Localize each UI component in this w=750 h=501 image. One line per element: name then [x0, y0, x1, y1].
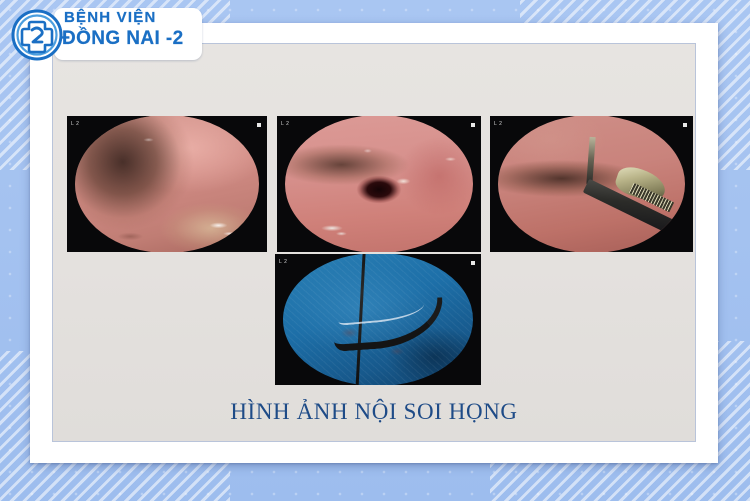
hospital-circle-emblem-icon — [10, 8, 64, 62]
frame-inner-border: L 2 L 2 — [52, 43, 696, 442]
image-corner-marker-icon — [471, 261, 475, 265]
endoscopy-field-of-view — [75, 116, 259, 252]
hospital-name-line-1: BỆNH VIỆN — [62, 10, 202, 25]
slide-page: L 2 L 2 — [0, 0, 750, 501]
image-corner-code: L 2 — [71, 121, 80, 127]
photo-frame: L 2 L 2 — [30, 23, 718, 463]
endoscopy-image-2[interactable]: L 2 — [277, 116, 481, 252]
throat-mucosa-render — [75, 116, 259, 252]
hospital-wordmark: BỆNH VIỆN ĐỒNG NAI -2 — [62, 10, 202, 58]
endoscopy-field-of-view — [283, 254, 473, 385]
slide-caption: HÌNH ẢNH NỘI SOI HỌNG — [53, 399, 695, 425]
pharynx-cavity-render — [285, 116, 473, 252]
endoscopy-image-1[interactable]: L 2 — [67, 116, 267, 252]
endoscopy-field-of-view — [285, 116, 473, 252]
image-corner-code: L 2 — [279, 259, 288, 265]
endoscopy-image-gallery: L 2 L 2 — [53, 44, 695, 441]
image-corner-marker-icon — [257, 123, 261, 127]
image-corner-code: L 2 — [281, 121, 290, 127]
image-corner-marker-icon — [471, 123, 475, 127]
image-corner-marker-icon — [683, 123, 687, 127]
image-corner-code: L 2 — [494, 121, 503, 127]
endoscopy-field-of-view — [498, 116, 685, 252]
endoscopy-image-3[interactable]: L 2 — [490, 116, 693, 252]
slide-canvas: L 2 L 2 — [53, 44, 695, 441]
endoscopy-image-4[interactable]: L 2 — [275, 254, 481, 385]
hospital-logo[interactable]: BỆNH VIỆN ĐỒNG NAI -2 — [10, 6, 202, 64]
hospital-name-line-2: ĐỒNG NAI -2 — [62, 29, 202, 48]
